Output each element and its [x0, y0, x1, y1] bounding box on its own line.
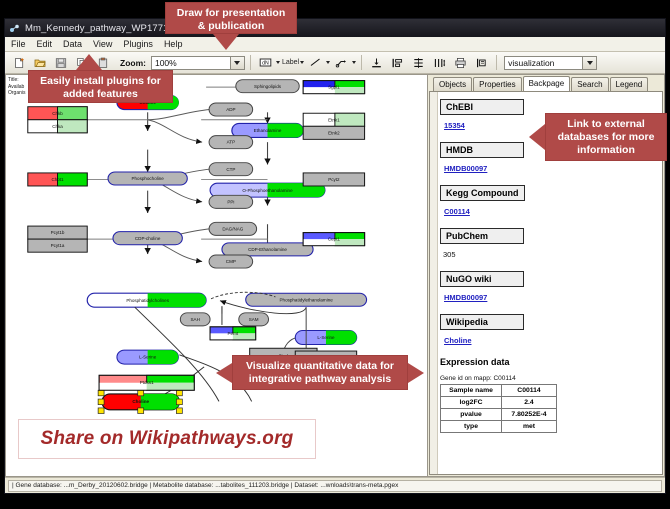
expression-data-title: Expression data [440, 357, 658, 367]
svg-text:Cept1: Cept1 [328, 237, 341, 242]
pathway-graphic: Sphingolipids Choline Ethanolamine [6, 75, 427, 476]
align-bottom-button[interactable] [367, 53, 386, 72]
node-atp: ATP [209, 136, 253, 149]
node-phosphocholine: Phosphocholine [108, 172, 187, 185]
print-button[interactable] [451, 53, 470, 72]
kegg-header: Kegg Compound [440, 185, 525, 201]
svg-text:dN: dN [262, 60, 269, 66]
menu-help[interactable]: Help [163, 39, 184, 49]
pubchem-value: 305 [443, 250, 456, 259]
svg-text:Pcyt1b: Pcyt1b [51, 230, 65, 235]
gene-chpt1-left: Chpt1 [28, 173, 87, 186]
node-dag-nag: DAG/NAG [209, 222, 257, 235]
cell-key: Sample name [441, 385, 502, 397]
node-cdp-ethanolamine: CDP-Ethanolamine [222, 243, 313, 256]
callout-links-text: Link to external databases for more info… [558, 118, 655, 156]
svg-text:Ptdss1: Ptdss1 [140, 380, 154, 385]
zoom-combo[interactable]: 100% [151, 56, 245, 70]
toolbar-separator [250, 55, 251, 70]
svg-text:PPi: PPi [227, 200, 234, 205]
menu-bar: File Edit Data View Plugins Help [5, 37, 665, 52]
cell-key: pvalue [441, 409, 502, 421]
node-l-serine-right: L-Serine [295, 331, 356, 345]
svg-text:CDP-Ethanolamine: CDP-Ethanolamine [248, 247, 287, 252]
nugo-header: NuGO wiki [440, 271, 524, 287]
wikipedia-link[interactable]: Choline [444, 336, 472, 345]
callout-links: Link to external databases for more info… [545, 113, 667, 161]
backpage-entry-wikipedia: Wikipedia Choline [440, 312, 658, 348]
node-ppi: PPi [209, 195, 253, 208]
backpage-scrollbar[interactable] [430, 92, 438, 474]
callout-visualize-pointer-right [408, 363, 424, 383]
svg-text:L-Serine: L-Serine [317, 335, 335, 340]
svg-text:Chpt1: Chpt1 [51, 177, 64, 182]
node-ctp: CTP [209, 163, 253, 176]
pubchem-header: PubChem [440, 228, 524, 244]
new-file-button[interactable] [9, 53, 28, 72]
side-panel-tabs: Objects Properties Backpage Search Legen… [428, 75, 664, 91]
gene-ptdss1: Ptdss1 [99, 375, 194, 390]
tab-legend[interactable]: Legend [610, 77, 649, 91]
svg-text:SAM: SAM [249, 317, 259, 322]
tab-properties[interactable]: Properties [473, 77, 521, 91]
tab-objects[interactable]: Objects [433, 77, 472, 91]
svg-text:Etnk1: Etnk1 [328, 117, 340, 122]
cell-value: met [502, 421, 557, 433]
node-choline-selected: Choline [98, 390, 182, 413]
svg-text:Choline: Choline [132, 399, 149, 404]
label-button-caption: Label [282, 59, 299, 66]
svg-text:Pcyt1a: Pcyt1a [51, 243, 65, 248]
wikipedia-header: Wikipedia [440, 314, 524, 330]
nugo-link[interactable]: HMDB00097 [444, 293, 487, 302]
node-cmp: CMP [209, 255, 253, 268]
svg-text:Pemt: Pemt [228, 331, 239, 336]
svg-text:Etnk2: Etnk2 [328, 131, 340, 136]
backpage-entry-pubchem: PubChem 305 [440, 226, 658, 262]
menu-view[interactable]: View [92, 39, 113, 49]
pathway-canvas[interactable]: Title: Availab Organis [5, 74, 427, 477]
datanode-button[interactable]: dN [256, 53, 280, 72]
svg-text:Phosphatidylethanolamine: Phosphatidylethanolamine [280, 297, 334, 302]
screenshot-root: Mm_Kennedy_pathway_WP1771_45176.gpml Fil… [0, 0, 670, 509]
line-button[interactable] [306, 53, 330, 72]
visualization-combo[interactable]: visualization [504, 56, 597, 70]
chebi-link[interactable]: 15354 [444, 121, 465, 130]
app-icon [9, 23, 20, 34]
order-button[interactable] [472, 53, 491, 72]
menu-edit[interactable]: Edit [36, 39, 54, 49]
table-row: Sample name C00114 [441, 385, 557, 397]
gene-sgpl1: Sgpl1 [303, 81, 364, 94]
svg-text:Sphingolipids: Sphingolipids [254, 84, 282, 89]
callout-draw-pointer [213, 34, 239, 50]
cell-value: 2.4 [502, 397, 557, 409]
stack-vertical-button[interactable] [409, 53, 428, 72]
gene-cept1: Cept1 [303, 233, 364, 246]
svg-text:SAH: SAH [191, 317, 200, 322]
toolbar-separator [496, 55, 497, 70]
tab-backpage[interactable]: Backpage [523, 76, 571, 91]
node-sah: SAH [180, 313, 210, 326]
node-phosphatidylcholines: Phosphatidylcholines [87, 293, 206, 307]
gene-pcyt2: Pcyt2 [303, 173, 364, 186]
expression-data-table: Sample name C00114 log2FC 2.4 pvalue 7.8… [440, 384, 557, 433]
gene-id-line: Gene id on mapp: C00114 [440, 375, 658, 382]
kegg-link[interactable]: C00114 [444, 207, 470, 216]
cell-key: log2FC [441, 397, 502, 409]
chevron-down-icon[interactable] [352, 61, 356, 64]
table-row: pvalue 7.80252E-4 [441, 409, 557, 421]
svg-text:Ethanolamine: Ethanolamine [254, 128, 282, 133]
chevron-down-icon[interactable] [326, 61, 330, 64]
callout-plugins-pointer [76, 54, 102, 70]
visualization-value: visualization [508, 58, 554, 68]
node-l-serine-left: L-Serine [117, 350, 178, 364]
tab-search[interactable]: Search [571, 77, 608, 91]
node-phosphatidylethanolamine: Phosphatidylethanolamine [246, 293, 367, 306]
menu-data[interactable]: Data [62, 39, 83, 49]
gene-chkb-chka: Chkb Chka [28, 107, 87, 133]
cell-value: 7.80252E-4 [502, 409, 557, 421]
interaction-button[interactable] [332, 53, 356, 72]
cell-value: C00114 [502, 385, 557, 397]
svg-text:CDP-choline: CDP-choline [135, 236, 161, 241]
callout-share: Share on Wikipathways.org [18, 419, 316, 459]
node-sphingolipids: Sphingolipids [236, 80, 299, 93]
callout-links-pointer [529, 124, 545, 150]
hmdb-link[interactable]: HMDB00097 [444, 164, 487, 173]
zoom-value: 100% [155, 58, 177, 68]
menu-plugins[interactable]: Plugins [122, 39, 154, 49]
chevron-down-icon[interactable] [582, 57, 596, 69]
chebi-header: ChEBI [440, 99, 524, 115]
align-left-button[interactable] [388, 53, 407, 72]
zoom-label: Zoom: [120, 58, 146, 68]
svg-text:Chkb: Chkb [52, 111, 63, 116]
distribute-button[interactable] [430, 53, 449, 72]
svg-text:CMP: CMP [226, 259, 236, 264]
table-row: log2FC 2.4 [441, 397, 557, 409]
svg-text:Phosphocholine: Phosphocholine [132, 176, 165, 181]
title-bar: Mm_Kennedy_pathway_WP1771_45176.gpml [5, 19, 665, 37]
svg-text:Chka: Chka [52, 124, 63, 129]
gene-pcyt1b-pcyt1a: Pcyt1b Pcyt1a [28, 226, 87, 252]
backpage-entry-nugo: NuGO wiki HMDB00097 [440, 269, 658, 305]
svg-text:ADP: ADP [226, 107, 235, 112]
svg-text:O-Phosphoethanolamine: O-Phosphoethanolamine [242, 188, 293, 193]
callout-draw: Draw for presentation & publication [165, 2, 297, 34]
status-bar: | Gene database: ...m_Derby_20120602.bri… [5, 477, 665, 493]
node-adp: ADP [209, 103, 253, 116]
callout-visualize-pointer-left [216, 363, 232, 383]
svg-text:CTP: CTP [226, 167, 235, 172]
gene-pemt: Pemt [210, 327, 256, 340]
cell-key: type [441, 421, 502, 433]
callout-visualize: Visualize quantitative data for integrat… [232, 355, 408, 390]
svg-text:L-Serine: L-Serine [139, 355, 157, 360]
status-text: | Gene database: ...m_Derby_20120602.bri… [8, 480, 662, 492]
callout-draw-text: Draw for presentation & publication [177, 7, 286, 32]
label-button[interactable]: Label [282, 59, 304, 66]
callout-plugins-text: Easily install plugins for added feature… [40, 75, 161, 100]
svg-text:Phosphatidylcholines: Phosphatidylcholines [126, 298, 169, 303]
menu-file[interactable]: File [10, 39, 27, 49]
gene-etnk1-etnk2: Etnk1 Etnk2 [303, 113, 364, 139]
node-cdp-choline: CDP-choline [113, 232, 182, 245]
chevron-down-icon[interactable] [230, 57, 244, 69]
callout-share-text: Share on Wikipathways.org [41, 428, 294, 450]
svg-text:DAG/NAG: DAG/NAG [222, 227, 244, 232]
svg-text:Sgpl1: Sgpl1 [328, 85, 340, 90]
callout-visualize-text: Visualize quantitative data for integrat… [246, 360, 394, 385]
callout-plugins: Easily install plugins for added feature… [28, 70, 173, 103]
toolbar-separator [361, 55, 362, 70]
svg-text:Pcyt2: Pcyt2 [328, 177, 340, 182]
node-sam: SAM [239, 313, 269, 326]
chevron-down-icon[interactable] [276, 61, 280, 64]
svg-text:ATP: ATP [227, 140, 236, 145]
table-row: type met [441, 421, 557, 433]
backpage-entry-kegg: Kegg Compound C00114 [440, 183, 658, 219]
chevron-down-icon[interactable] [300, 61, 304, 64]
hmdb-header: HMDB [440, 142, 524, 158]
